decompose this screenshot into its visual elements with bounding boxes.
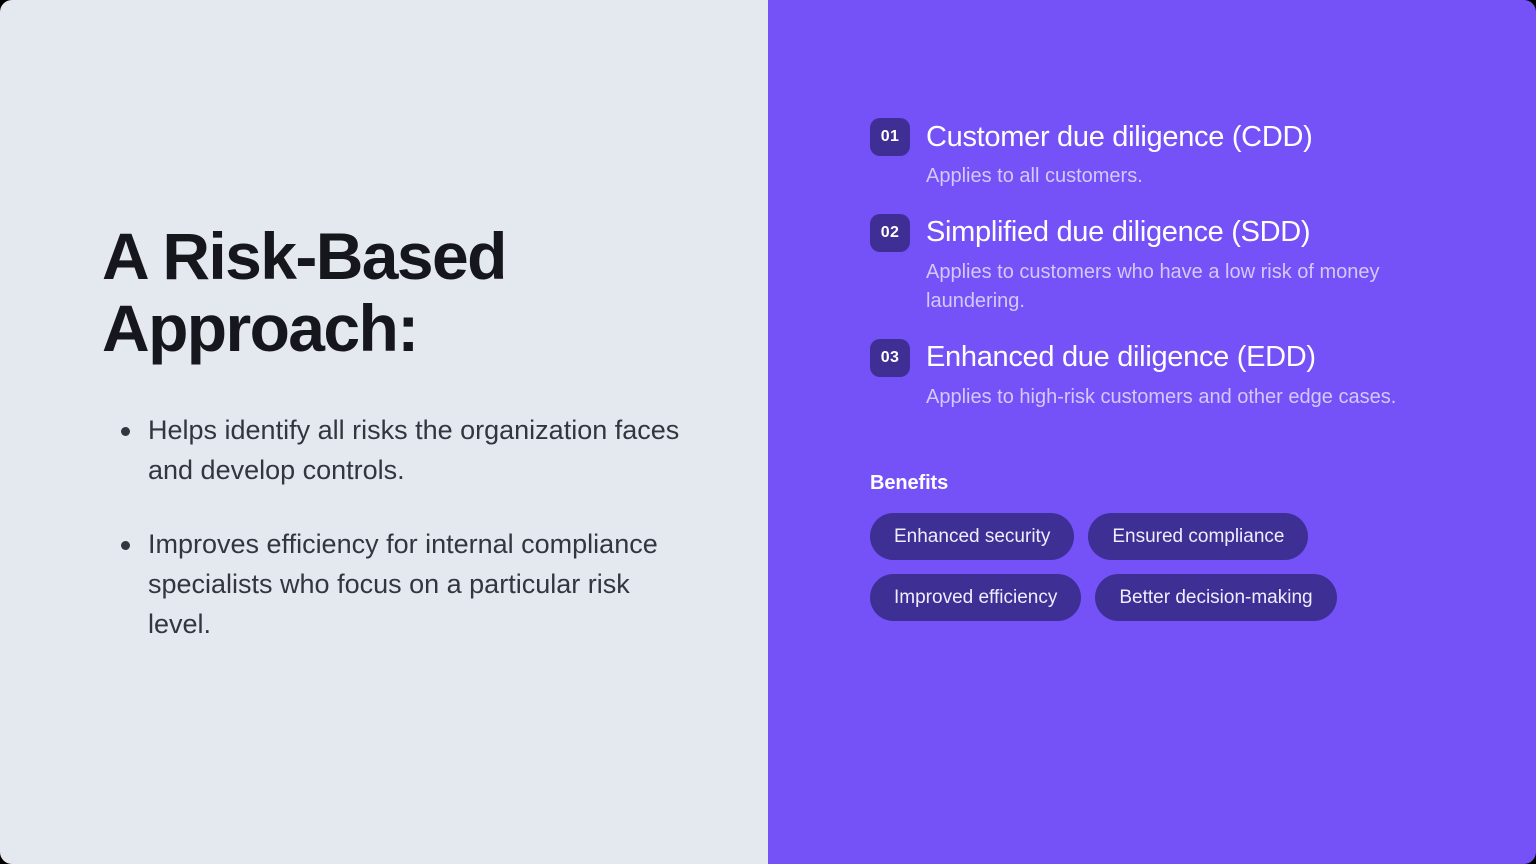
due-diligence-steps-list: 01 Customer due diligence (CDD) Applies … xyxy=(870,118,1436,434)
benefit-pill-ensured-compliance: Ensured compliance xyxy=(1088,513,1308,560)
step-number-badge: 01 xyxy=(870,118,910,156)
list-item: Helps identify all risks the organizatio… xyxy=(102,411,688,491)
step-description: Applies to all customers. xyxy=(926,162,1426,192)
page-title-line-1: A Risk-Based xyxy=(102,220,622,293)
list-item-text: Helps identify all risks the organizatio… xyxy=(148,415,679,485)
right-panel: 01 Customer due diligence (CDD) Applies … xyxy=(768,0,1536,864)
list-item: Improves efficiency for internal complia… xyxy=(102,525,688,645)
step-header: 02 Simplified due diligence (SDD) xyxy=(870,214,1436,252)
benefits-pill-row: Enhanced security Ensured compliance Imp… xyxy=(870,513,1390,621)
step-header: 03 Enhanced due diligence (EDD) xyxy=(870,339,1436,377)
benefits-section: Benefits Enhanced security Ensured compl… xyxy=(870,472,1436,621)
benefit-pill-better-decision-making: Better decision-making xyxy=(1095,574,1336,621)
key-points-list: Helps identify all risks the organizatio… xyxy=(102,411,708,645)
step-description: Applies to high-risk customers and other… xyxy=(926,383,1426,413)
list-item: 02 Simplified due diligence (SDD) Applie… xyxy=(870,214,1436,317)
step-number-badge: 03 xyxy=(870,339,910,377)
step-title: Customer due diligence (CDD) xyxy=(926,120,1312,155)
page-title: A Risk-Based Approach: xyxy=(102,220,622,365)
list-item: 03 Enhanced due diligence (EDD) Applies … xyxy=(870,339,1436,413)
bullet-dot-icon xyxy=(121,427,130,436)
step-title: Simplified due diligence (SDD) xyxy=(926,215,1310,250)
left-panel: A Risk-Based Approach: Helps identify al… xyxy=(0,0,768,864)
list-item-text: Improves efficiency for internal complia… xyxy=(148,529,658,639)
slide-canvas: A Risk-Based Approach: Helps identify al… xyxy=(0,0,1536,864)
benefits-label: Benefits xyxy=(870,472,1436,495)
step-description: Applies to customers who have a low risk… xyxy=(926,258,1426,317)
step-title: Enhanced due diligence (EDD) xyxy=(926,340,1316,375)
page-title-line-2: Approach: xyxy=(102,292,622,365)
step-header: 01 Customer due diligence (CDD) xyxy=(870,118,1436,156)
step-number-badge: 02 xyxy=(870,214,910,252)
list-item: 01 Customer due diligence (CDD) Applies … xyxy=(870,118,1436,192)
benefit-pill-enhanced-security: Enhanced security xyxy=(870,513,1074,560)
bullet-dot-icon xyxy=(121,541,130,550)
benefit-pill-improved-efficiency: Improved efficiency xyxy=(870,574,1081,621)
